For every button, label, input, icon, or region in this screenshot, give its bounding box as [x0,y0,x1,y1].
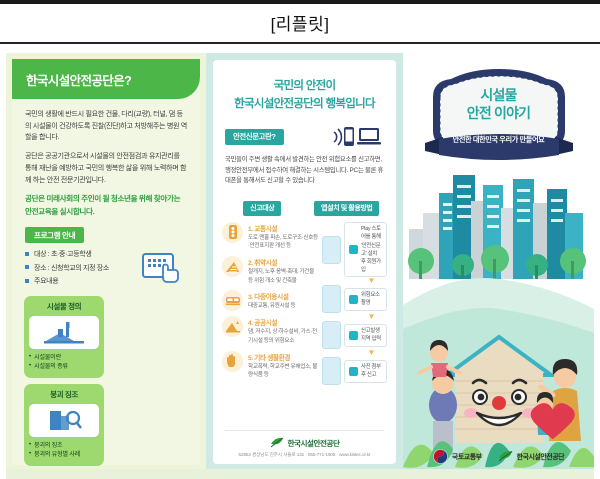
left-header-text: 한국시설안전공단은? [26,70,131,89]
arrow-down-icon: ▼ [356,314,387,320]
footer-logo: 한국시설안전공단 [225,437,384,449]
card-item: 붕괴의 징조 [29,441,99,451]
report-target-item: 4. 공공시설 댐, 저수지, 상·하수설비, 가스·전기시설 등의 위험요소 [222,316,318,345]
bus-icon [225,295,241,307]
app-usage-tag: 앱설치 및 활용방법 [314,201,379,216]
bottom-strip [6,469,594,479]
logo-molit: 국토교통부 [433,449,482,464]
left-panel-inner: 한국시설안전공단은? 국민의 생활에 반드시 필요한 건물, 다리(교량), 터… [12,59,200,465]
taegeuk-icon [433,449,448,464]
program-bullets-row: 대상 : 초·중·고등학생 장소 : 신청학교의 지정 장소 주요내용 [25,249,187,290]
kistec-icon [270,437,284,449]
card-item: 시설물의 종류 [29,362,99,372]
left-panel-body: 국민의 생활에 반드시 필요한 건물, 다리(교량), 터널, 댐 등의 시설물… [12,99,200,290]
headline-line-1: 국민의 안전이 [274,80,336,92]
item-title: 4. 공공시설 [248,317,318,327]
item-title: 1. 교통시설 [248,223,318,233]
left-panel-header: 한국시설안전공단은? [12,59,200,99]
touch-screen-icon [139,251,183,287]
item-title: 2. 취약시설 [248,257,318,267]
magnifier-building-icon [44,407,84,433]
report-target-item: 1. 교통시설 도로·맨홀 파손, 도로구조·신호등·안전표지판 개선 등 [222,222,318,251]
middle-panel: 국민의 안전이 한국시설안전공단의 행복입니다 안전신문고란? [206,53,403,471]
traffic-light-icon [227,224,239,240]
badge-line-1: 시설물 [423,87,575,105]
arrow-down-icon: ▼ [356,350,387,356]
item-desc: 대중교통, 유원시설 등 [248,302,295,311]
program-bullet: 대상 : 초·중·고등학생 [25,249,109,259]
card-item: 시설물이란 [29,353,99,363]
program-bullet: 주요내용 [25,276,109,286]
intro-tag: 안전신문고란? [225,129,284,145]
intro-body: 국민들이 주변 생활 속에서 발견하는 안전 위험요소를 신고하면, 행정안전부… [213,150,396,188]
program-card[interactable]: 붕괴 징조 붕괴의 징조 붕괴의 유형별 사례 [24,384,104,466]
card-item-list: 붕괴의 징조 붕괴의 유형별 사례 [29,441,99,460]
item-text: 5. 기타 생활환경 학교폭력, 학교주변 유해업소, 불량식품 등 [248,351,318,380]
step-bubble: 위험요소 촬영 [344,288,387,311]
app-step: 신고발생지역 입력 [322,321,387,349]
intro-row: 안전신문고란? [213,120,396,150]
step-bubble: 사진 첨부 후 신고 [344,360,387,383]
step-text: 신고발생지역 입력 [361,327,382,343]
card-image [29,316,99,349]
page-title: [리플릿] [0,4,600,42]
headline-line-2: 한국시설안전공단의 행복입니다 [234,98,375,110]
item-title: 5. 기타 생활환경 [248,352,318,362]
left-panel: 한국시설안전공단은? 국민의 생활에 반드시 필요한 건물, 다리(교량), 터… [6,53,206,471]
report-target-list: 1. 교통시설 도로·맨홀 파손, 도로구조·신호등·안전표지판 개선 등 [222,222,318,387]
item-text: 4. 공공시설 댐, 저수지, 상·하수설비, 가스·전기시설 등의 위험요소 [248,316,318,345]
program-card[interactable]: 시설물 정의 시설물이란 시설물의 종류 [24,296,104,378]
app-steps-list: Play 스토어를 통해 '안전신문고' 설치 후 회원가입 ▼ 위험요소 촬영… [322,222,387,387]
report-targets-tag: 신고대상 [243,201,281,216]
step-text: 사진 첨부 후 신고 [361,363,382,379]
phone-illustration [322,357,341,385]
phone-laptop-icon [330,124,384,150]
item-icon-circle [222,222,243,243]
facility-icon [44,319,84,345]
item-desc: 도로·맨홀 파손, 도로구조·신호등·안전표지판 개선 등 [248,234,318,251]
step-text: 위험요소 촬영 [361,291,382,307]
item-icon-circle [222,290,243,311]
column-headers: 신고대상 앱설치 및 활용방법 [213,187,396,216]
middle-headline: 국민의 안전이 한국시설안전공단의 행복입니다 [213,60,396,120]
item-desc: 댐, 저수지, 상·하수설비, 가스·전기시설 등의 위험요소 [248,328,318,345]
camera-icon [349,295,358,304]
middle-panel-inner: 국민의 안전이 한국시설안전공단의 행복입니다 안전신문고란? [213,60,396,464]
phone-illustration [322,236,341,264]
app-step: Play 스토어를 통해 '안전신문고' 설치 후 회원가입 [322,222,387,278]
card-title: 시설물 정의 [29,301,99,312]
phone-illustration [322,285,341,313]
left-paragraph-1: 국민의 생활에 반드시 필요한 건물, 다리(교량), 터널, 댐 등의 시설물… [25,109,187,144]
leaflet-page: [리플릿] 한국시설안전공단은? 국민의 생활에 반드시 필요한 건물, 다리(… [0,0,600,479]
item-icon-circle [222,351,243,372]
middle-footer: 한국시설안전공단 52852 경상남도 진주시 사들로 131 · 055-77… [225,430,384,458]
title-divider [0,42,600,44]
send-icon [349,367,358,376]
program-bullet-list: 대상 : 초·중·고등학생 장소 : 신청학교의 지정 장소 주요내용 [25,249,109,290]
report-target-item: 3. 다중이용시설 대중교통, 유원시설 등 [222,290,318,311]
slope-icon [225,260,240,274]
card-title: 붕괴 징조 [29,389,99,400]
item-text: 1. 교통시설 도로·맨홀 파손, 도로구조·신호등·안전표지판 개선 등 [248,222,318,251]
step-text: Play 스토어를 통해 '안전신문고' 설치 후 회원가입 [361,225,382,274]
app-step: 위험요소 촬영 [322,285,387,313]
kistec-icon [498,450,513,463]
leaflet-body: 한국시설안전공단은? 국민의 생활에 반드시 필요한 건물, 다리(교량), 터… [6,53,594,471]
play-store-icon [349,245,358,254]
footer-address: 52852 경상남도 진주시 사들로 131 · 055-771-1905 · … [225,452,384,458]
card-item-list: 시설물이란 시설물의 종류 [29,353,99,372]
right-panel: 시설물 안전 이야기 안전한 대한민국 우리가 만들어요 [403,53,594,471]
map-pin-icon [349,331,358,340]
footer-logo-text: 한국시설안전공단 [288,438,340,449]
program-bullet: 장소 : 신청학교의 지정 장소 [25,263,109,273]
app-step: 사진 첨부 후 신고 [322,357,387,385]
columns: 1. 교통시설 도로·맨홀 파손, 도로구조·신호등·안전표지판 개선 등 [213,216,396,387]
phone-illustration [322,321,341,349]
right-panel-inner: 시설물 안전 이야기 안전한 대한민국 우리가 만들어요 [403,53,594,471]
item-text: 2. 취약시설 절개지, 노후 옹벽·축대, 가건물 등 위험 개소 및 건축물 [248,256,318,285]
program-card-grid: 시설물 정의 시설물이란 시설물의 종류 [12,290,200,471]
item-desc: 학교폭력, 학교주변 유해업소, 불량식품 등 [248,363,318,380]
program-tag: 프로그램 안내 [25,227,84,243]
logo-kistec: 한국시설안전공단 [498,450,565,463]
column-header-right: 앱설치 및 활용방법 [308,197,387,216]
step-bubble: Play 스토어를 통해 '안전신문고' 설치 후 회원가입 [344,222,387,278]
arrow-down-icon: ▼ [356,278,387,284]
report-target-item: 5. 기타 생활환경 학교폭력, 학교주변 유해업소, 불량식품 등 [222,351,318,380]
right-panel-footer-logos: 국토교통부 한국시설안전공단 [403,449,594,464]
item-title: 3. 다중이용시설 [248,291,295,301]
left-paragraph-2: 공단은 공공기관으로서 시설물의 안전점검과 유지관리를 통해 재난을 예방하고… [25,151,187,186]
logo-label: 한국시설안전공단 [517,452,565,462]
hand-icon [226,354,239,368]
title-badge: 시설물 안전 이야기 안전한 대한민국 우리가 만들어요 [423,65,575,147]
column-header-left: 신고대상 [223,197,302,216]
item-text: 3. 다중이용시설 대중교통, 유원시설 등 [248,290,295,311]
badge-line-2: 안전 이야기 [423,105,575,123]
step-bubble: 신고발생지역 입력 [344,324,387,347]
card-item: 붕괴의 유형별 사례 [29,450,99,460]
report-target-item: 2. 취약시설 절개지, 노후 옹벽·축대, 가건물 등 위험 개소 및 건축물 [222,256,318,285]
item-desc: 절개지, 노후 옹벽·축대, 가건물 등 위험 개소 및 건축물 [248,268,318,285]
card-image [29,404,99,437]
left-highlight-text: 공단은 미래사회의 주인이 될 청소년을 위해 찾아가는 안전교육을 실시합니다… [25,193,187,219]
item-icon-circle [222,256,243,277]
logo-label: 국토교통부 [452,452,482,462]
dam-icon [225,320,241,333]
item-icon-circle [222,316,243,337]
badge-ribbon: 안전한 대한민국 우리가 만들어요 [423,129,575,147]
